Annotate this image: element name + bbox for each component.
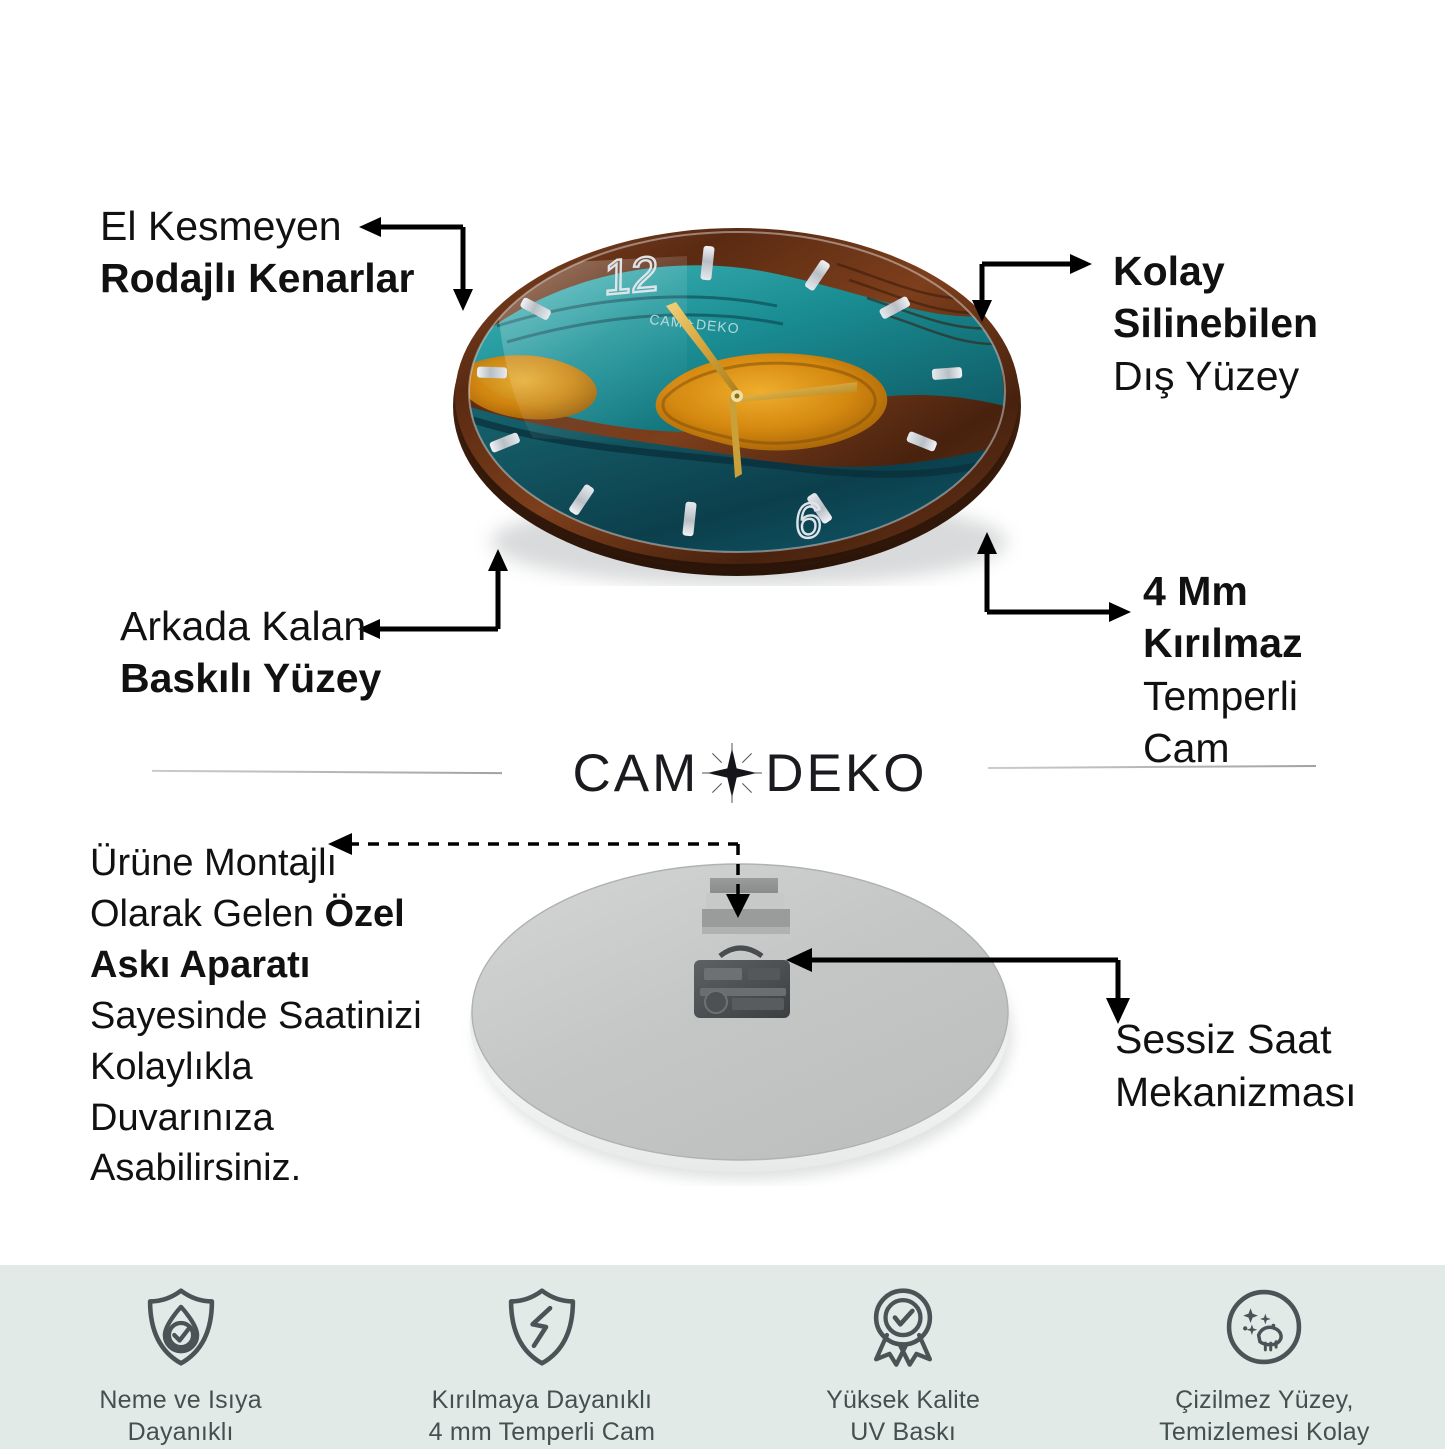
brand-logo-deko: DEKO — [765, 743, 927, 804]
feature-label: Neme ve Isıya Dayanıklı — [99, 1384, 261, 1449]
callout-glass-line3: Temperli — [1143, 670, 1373, 722]
feature-label-line2: 4 mm Temperli Cam — [429, 1416, 656, 1449]
divider-right — [988, 765, 1316, 769]
callout-edges: El Kesmeyen Rodajlı Kenarlar — [100, 200, 440, 305]
arrow-silent — [782, 940, 1142, 1040]
silent-line1: Sessiz Saat — [1115, 1013, 1415, 1066]
callout-hanger: Ürüne Montajlı Olarak Gelen Özel Askı Ap… — [90, 838, 445, 1194]
logo-band: CAM DEKO — [0, 726, 1445, 818]
feature-label-line2: UV Baskı — [826, 1416, 980, 1449]
feature-moisture-heat: Neme ve Isıya Dayanıklı — [56, 1266, 306, 1449]
callout-wipe-line3: Dış Yüzey — [1113, 350, 1393, 402]
callout-wipe-line2: Silinebilen — [1113, 297, 1393, 349]
silent-line2: Mekanizması — [1115, 1066, 1415, 1119]
clock-front-image: 12 6 CAM✦DEKO — [437, 206, 1037, 586]
hanger-line1: Ürüne Montajlı — [90, 838, 445, 889]
hanger-line2: Olarak Gelen Özel — [90, 889, 445, 940]
cleaning-hand-sparkle-icon — [1221, 1284, 1307, 1370]
feature-row: Neme ve Isıya Dayanıklı Kırılmaya Dayanı… — [0, 1265, 1445, 1449]
brand-logo: CAM DEKO — [560, 734, 940, 812]
hanger-line4: Sayesinde Saatinizi — [90, 991, 445, 1042]
feature-label: Çizilmez Yüzey, Temizlemesi Kolay — [1159, 1384, 1369, 1449]
callout-glass-line1: 4 Mm — [1143, 565, 1373, 617]
hanger-line3: Askı Aparatı — [90, 940, 445, 991]
hanger-line2-bold: Özel — [324, 893, 404, 935]
callout-glass-line2: Kırılmaz — [1143, 617, 1373, 669]
clock-numeral-6: 6 — [794, 493, 823, 549]
feature-label: Kırılmaya Dayanıklı 4 mm Temperli Cam — [429, 1384, 656, 1449]
feature-label: Yüksek Kalite UV Baskı — [826, 1384, 980, 1449]
feature-label-line1: Çizilmez Yüzey, — [1159, 1384, 1369, 1417]
feature-label-line1: Neme ve Isıya — [99, 1384, 261, 1417]
feature-label-line1: Kırılmaya Dayanıklı — [429, 1384, 656, 1417]
callout-silent: Sessiz Saat Mekanizması — [1115, 1013, 1415, 1120]
arrow-glass — [965, 528, 1135, 633]
feature-break-resistant: Kırılmaya Dayanıklı 4 mm Temperli Cam — [417, 1266, 667, 1449]
infographic-canvas: 12 6 CAM✦DEKO — [0, 0, 1445, 1449]
feature-scratch-free: Çizilmez Yüzey, Temizlemesi Kolay — [1139, 1266, 1389, 1449]
award-ribbon-check-icon — [860, 1284, 946, 1370]
feature-bar: Neme ve Isıya Dayanıklı Kırılmaya Dayanı… — [0, 1265, 1445, 1449]
feature-uv-print: Yüksek Kalite UV Baskı — [778, 1266, 1028, 1449]
callout-edges-line1: El Kesmeyen — [100, 200, 440, 252]
callout-wipe: Kolay Silinebilen Dış Yüzey — [1113, 245, 1393, 402]
hanger-line6: Asabilirsiniz. — [90, 1143, 445, 1194]
callout-edges-line2: Rodajlı Kenarlar — [100, 252, 440, 304]
callout-print: Arkada Kalan Baskılı Yüzey — [120, 600, 450, 705]
feature-label-line1: Yüksek Kalite — [826, 1384, 980, 1417]
feature-label-line2: Dayanıklı — [99, 1416, 261, 1449]
shield-lightning-bolt-icon — [499, 1284, 585, 1370]
brand-logo-cam: CAM — [573, 743, 700, 804]
feature-label-line2: Temizlemesi Kolay — [1159, 1416, 1369, 1449]
shield-water-drop-check-icon — [138, 1284, 224, 1370]
arrow-wipe — [960, 250, 1090, 340]
callout-print-line1: Arkada Kalan — [120, 600, 450, 652]
callout-print-line2: Baskılı Yüzey — [120, 652, 450, 704]
divider-left — [152, 770, 502, 774]
hanger-line5: Kolaylıkla Duvarınıza — [90, 1042, 445, 1144]
clock-numeral-12: 12 — [604, 247, 659, 306]
callout-wipe-line1: Kolay — [1113, 245, 1393, 297]
hanger-line2-regular: Olarak Gelen — [90, 893, 324, 935]
four-point-star-icon — [701, 742, 763, 804]
